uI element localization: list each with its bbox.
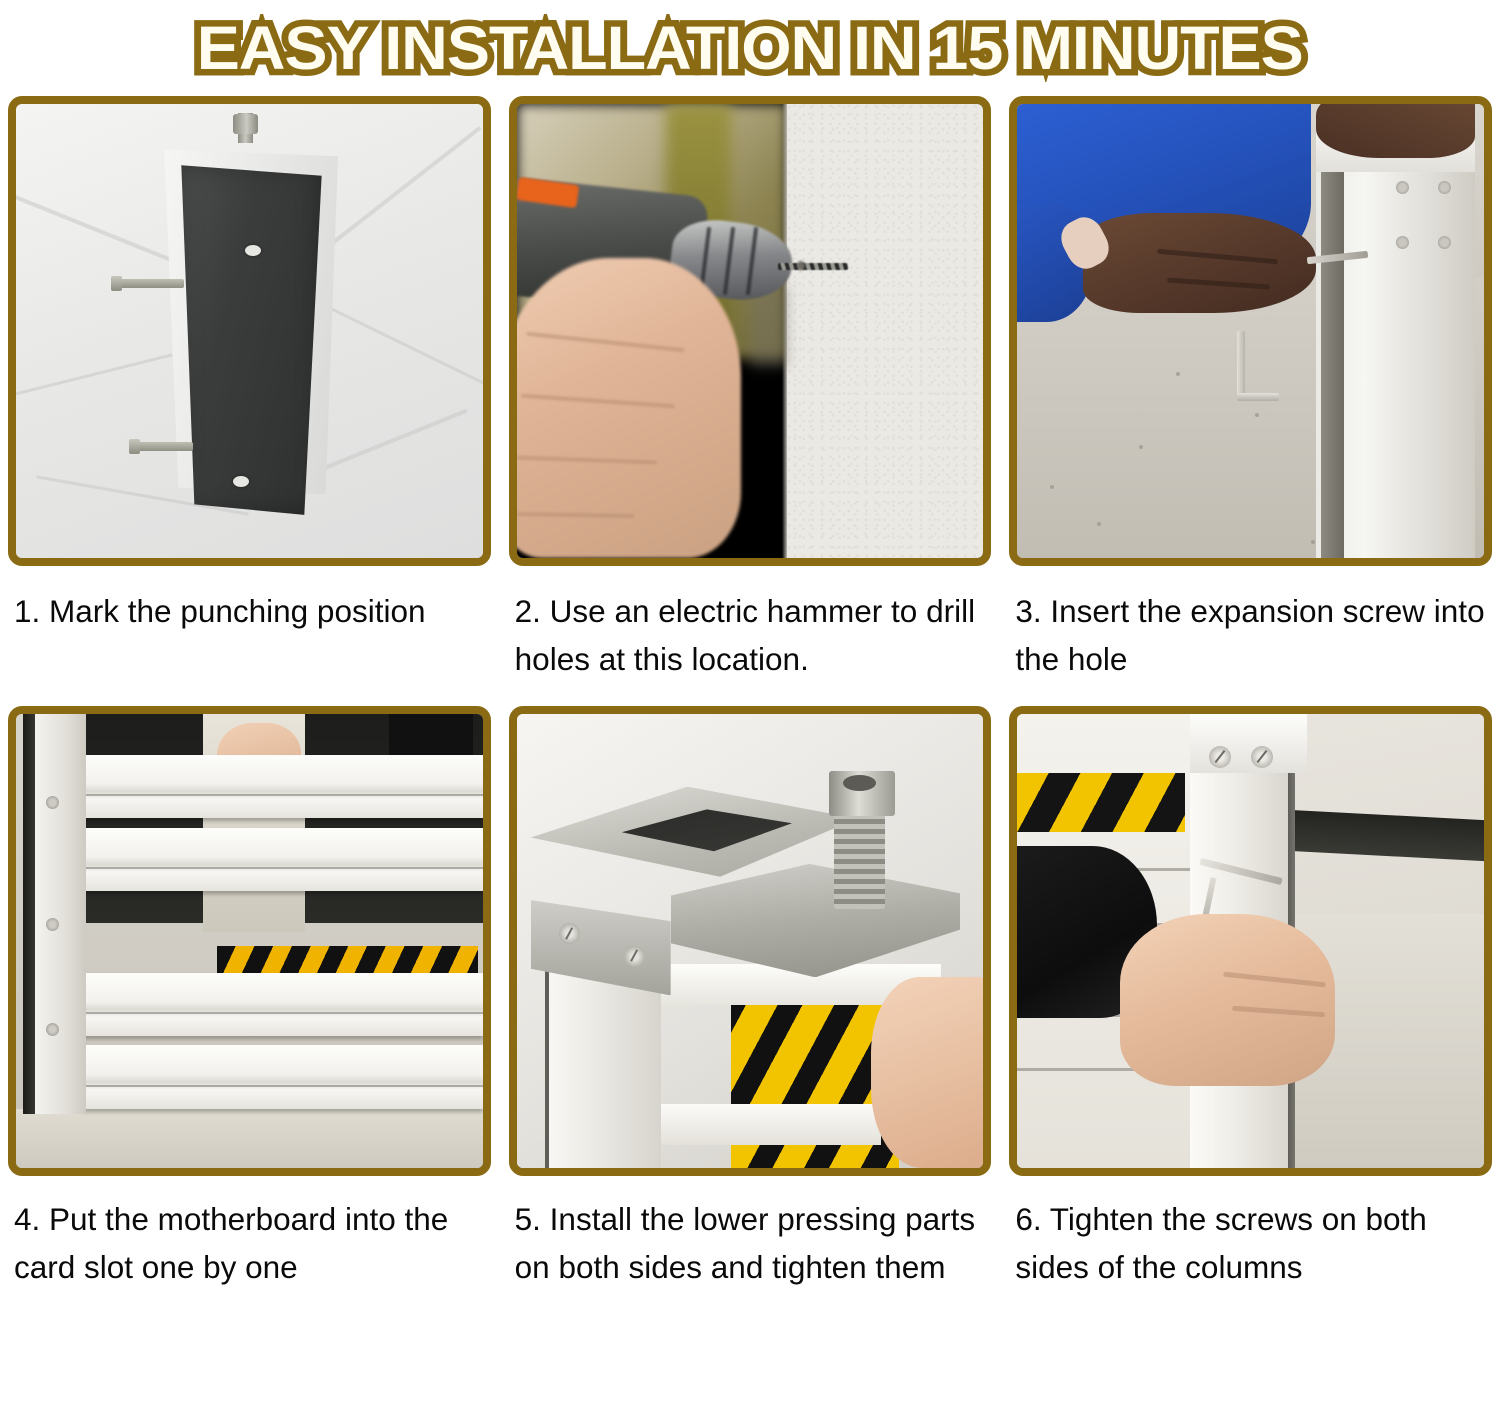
cloth-fold xyxy=(8,354,172,402)
screw-head xyxy=(1438,236,1451,249)
card-slot-post xyxy=(35,714,86,1114)
worker-forearm xyxy=(1083,213,1316,313)
screw-head xyxy=(559,923,580,944)
step-1-caption: 1. Mark the punching position xyxy=(8,566,491,706)
steps-row-2: 4. Put the motherboard into the card slo… xyxy=(0,706,1500,1316)
cloth-fold xyxy=(311,409,468,476)
step-6-image-frame xyxy=(1009,706,1492,1176)
side-stud xyxy=(137,442,193,451)
step-card-3: 3. Insert the expansion screw into the h… xyxy=(1009,96,1492,706)
step-card-4: 4. Put the motherboard into the card slo… xyxy=(8,706,491,1316)
screw-head xyxy=(1251,746,1273,768)
barrier-board xyxy=(81,1045,482,1109)
side-stud xyxy=(119,279,184,288)
barrier-board xyxy=(81,973,482,1037)
step-1-image-frame xyxy=(8,96,491,566)
allen-wrench xyxy=(1237,331,1245,395)
template-plate xyxy=(177,165,322,515)
column-shadow-edge xyxy=(1321,113,1344,558)
insert-boards-photo xyxy=(16,714,483,1168)
cloth-fold xyxy=(325,126,482,250)
step-5-caption: 5. Install the lower pressing parts on b… xyxy=(509,1176,992,1316)
step-3-caption: 3. Insert the expansion screw into the h… xyxy=(1009,566,1492,706)
floor-speck xyxy=(1176,372,1180,376)
column-top-cap xyxy=(1190,714,1307,773)
drilling-wall-photo xyxy=(517,104,984,558)
floor-speck xyxy=(1139,445,1143,449)
step-4-image-frame xyxy=(8,706,491,1176)
step-3-image-frame xyxy=(1009,96,1492,566)
screw-head xyxy=(624,946,645,967)
step-4-caption: 4. Put the motherboard into the card slo… xyxy=(8,1176,491,1316)
barrier-board xyxy=(661,1104,880,1145)
worker-upper-arm xyxy=(1316,96,1475,158)
step-2-image-frame xyxy=(509,96,992,566)
page-title: EASY INSTALLATION IN 15 MINUTES xyxy=(197,18,1303,79)
drilled-hole xyxy=(797,261,805,270)
screw-head xyxy=(46,796,59,809)
top-bolt-head xyxy=(233,114,258,134)
step-5-image-frame xyxy=(509,706,992,1176)
pressing-parts-photo xyxy=(517,714,984,1168)
floor xyxy=(16,1109,483,1168)
barrier-board xyxy=(81,828,482,892)
screw-head xyxy=(1209,746,1231,768)
masonry-drill-bit xyxy=(778,263,848,270)
step-card-1: 1. Mark the punching position xyxy=(8,96,491,706)
expansion-screw-photo xyxy=(1017,104,1484,558)
step-card-6: 6. Tighten the screws on both sides of t… xyxy=(1009,706,1492,1316)
step-6-caption: 6. Tighten the screws on both sides of t… xyxy=(1009,1176,1492,1316)
hazard-stripe xyxy=(1017,773,1185,832)
header-banner: EASY INSTALLATION IN 15 MINUTES xyxy=(0,0,1500,96)
hand xyxy=(871,977,991,1168)
mounting-hole xyxy=(245,245,261,256)
textured-wall xyxy=(787,104,983,558)
hand xyxy=(1120,914,1335,1087)
screw-head xyxy=(46,1023,59,1036)
floor-speck xyxy=(1097,522,1101,526)
aluminum-column xyxy=(549,959,661,1168)
step-2-caption: 2. Use an electric hammer to drill holes… xyxy=(509,566,992,706)
step-card-5: 5. Install the lower pressing parts on b… xyxy=(509,706,992,1316)
screw-head xyxy=(1396,236,1409,249)
marking-template-photo xyxy=(16,104,483,558)
barrier-board xyxy=(81,755,482,819)
tighten-screws-photo xyxy=(1017,714,1484,1168)
steps-row-1: 1. Mark the punching position xyxy=(0,96,1500,706)
step-card-2: 2. Use an electric hammer to drill holes… xyxy=(509,96,992,706)
